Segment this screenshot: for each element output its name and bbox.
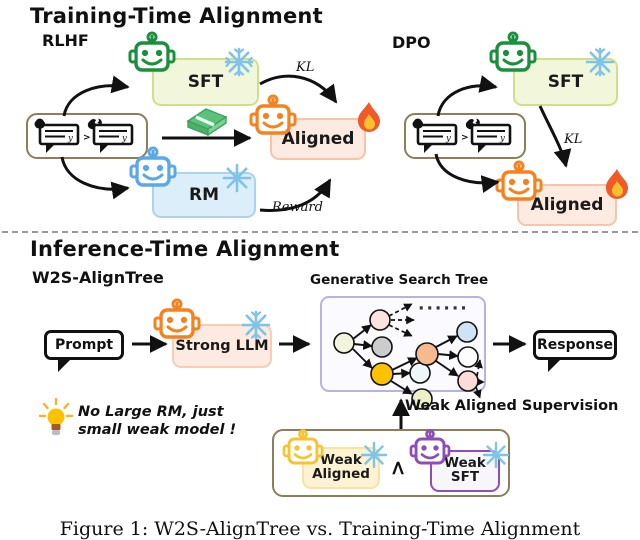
dpo-label: DPO (392, 33, 431, 52)
blue-robot-icon (128, 148, 178, 194)
search-tree-title: Generative Search Tree (310, 272, 488, 288)
arrow-tree-to-response (491, 335, 535, 355)
tree-ellipsis: ······ (418, 299, 469, 319)
svg-text:y: y (121, 134, 128, 144)
green-robot-icon (488, 33, 538, 79)
figure-canvas: Training-Time Alignment RLHF SFT (0, 0, 640, 536)
prompt-bubble: Prompt (44, 330, 124, 360)
arrow-strong-llm-to-tree (277, 335, 319, 355)
prompt-label: Prompt (55, 337, 113, 353)
rlhf-sft-label: SFT (188, 72, 223, 92)
prompt-bubble-tail (56, 358, 82, 374)
section-divider (2, 231, 638, 233)
arrow-dpo-pref-to-aligned (432, 152, 512, 192)
w2s-aligntree-label: W2S-AlignTree (32, 268, 164, 287)
arrow-pref-to-sft (58, 78, 142, 118)
snowflake-icon (224, 47, 254, 77)
rlhf-kl-label: KL (296, 60, 314, 75)
snowflake-icon (241, 310, 271, 340)
weak-supervision-label: Weak Aligned Supervision (405, 398, 618, 414)
orange-robot-icon (152, 300, 202, 346)
lightbulb-icon (38, 398, 74, 440)
snowflake-icon (585, 47, 615, 77)
svg-text:y: y (445, 134, 452, 144)
svg-text:>: > (461, 133, 469, 143)
svg-text:y: y (67, 134, 74, 144)
figure-caption: Figure 1: W2S-AlignTree vs. Training-Tim… (0, 518, 640, 540)
section-title-inference-time: Inference-Time Alignment (30, 237, 340, 261)
weak-sft-label-line2: SFT (451, 471, 479, 485)
svg-text:>: > (83, 133, 91, 143)
rlhf-reward-label: Reward (272, 200, 323, 215)
response-label: Response (537, 337, 613, 353)
response-bubble-tail (546, 358, 572, 374)
yellow-robot-icon (281, 430, 325, 470)
green-robot-icon (127, 33, 177, 79)
snowflake-icon (222, 163, 252, 193)
preference-pair-icon: y > y (406, 115, 524, 157)
snowflake-icon (360, 441, 388, 469)
svg-text:y: y (499, 134, 506, 144)
cash-stack-icon (182, 105, 232, 141)
weak-aligned-label-line2: Aligned (312, 468, 370, 482)
no-large-rm-note: No Large RM, just small weak model ! (78, 404, 236, 439)
fire-icon (602, 168, 632, 202)
purple-robot-icon (408, 430, 452, 470)
dpo-sft-label: SFT (548, 72, 583, 92)
response-bubble: Response (533, 330, 617, 360)
snowflake-icon (482, 441, 510, 469)
weak-relation-symbol: > (385, 460, 409, 477)
section-title-training-time: Training-Time Alignment (30, 4, 323, 28)
rlhf-label: RLHF (42, 31, 89, 50)
dpo-kl-label: KL (564, 132, 582, 147)
fire-icon (354, 101, 384, 135)
arrow-dpo-pref-to-sft (432, 78, 508, 118)
rlhf-rm-label: RM (189, 185, 219, 205)
